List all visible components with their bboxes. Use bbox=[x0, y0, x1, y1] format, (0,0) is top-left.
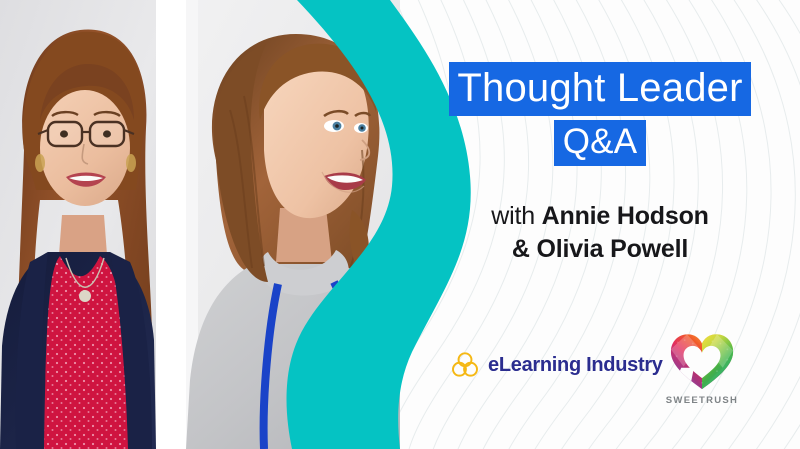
presenter-photos bbox=[0, 0, 400, 449]
trefoil-circles-icon bbox=[450, 350, 480, 380]
sweetrush-wordmark: SWEETRUSH bbox=[660, 395, 744, 406]
presenter-name-1: Annie Hodson bbox=[542, 202, 709, 230]
presenter-names: with Annie Hodson & Olivia Powell bbox=[420, 200, 780, 265]
with-label: with bbox=[491, 202, 541, 230]
webinar-promo-banner: Thought Leader Q&A with Annie Hodson & O… bbox=[0, 0, 800, 449]
sweetrush-logo[interactable]: SWEETRUSH bbox=[660, 332, 744, 406]
page-title-line-2: Q&A bbox=[554, 120, 647, 166]
presenter-line-2: & Olivia Powell bbox=[420, 233, 780, 266]
title-block: Thought Leader Q&A bbox=[420, 62, 780, 166]
presenter-line-1: with Annie Hodson bbox=[420, 200, 780, 233]
photo-annie-hodson bbox=[0, 0, 156, 449]
page-title-line-1: Thought Leader bbox=[449, 62, 750, 116]
logo-row: eLearning Industry bbox=[430, 330, 780, 420]
elearning-industry-wordmark: eLearning Industry bbox=[488, 354, 663, 377]
photo-olivia-powell bbox=[156, 0, 400, 449]
elearning-industry-logo[interactable]: eLearning Industry bbox=[450, 350, 663, 380]
rainbow-heart-icon bbox=[666, 332, 738, 392]
